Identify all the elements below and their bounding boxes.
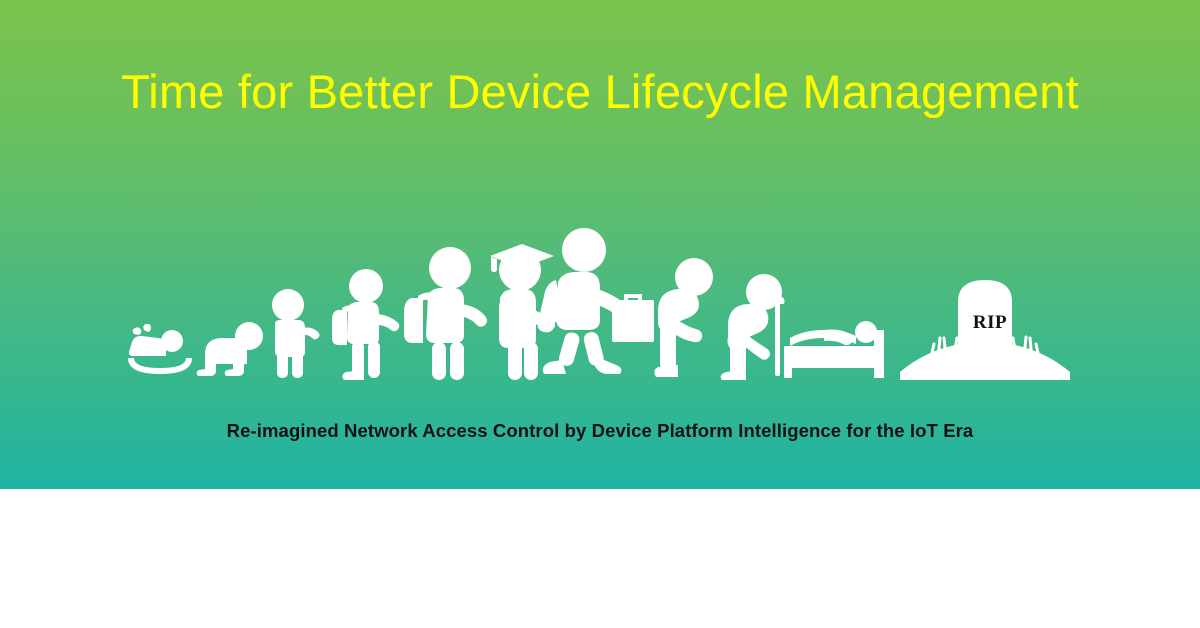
page-title: Time for Better Device Lifecycle Managem… xyxy=(0,62,1200,122)
student-backpack-icon xyxy=(398,246,490,380)
stooped-elder-icon xyxy=(638,255,720,380)
crawling-baby-icon xyxy=(195,318,267,380)
footer-section: Genians info security xyxy=(0,489,1200,628)
lifecycle-illustration xyxy=(110,225,1090,380)
baby-in-cradle-icon xyxy=(120,318,200,380)
tombstone-rip-label: RIP xyxy=(945,313,1035,332)
schoolchild-icon xyxy=(322,268,402,380)
toddler-icon xyxy=(265,288,327,380)
hero-section: Time for Better Device Lifecycle Managem… xyxy=(0,0,1200,489)
person-in-bed-icon xyxy=(782,312,890,380)
promo-banner: Time for Better Device Lifecycle Managem… xyxy=(0,0,1200,628)
page-subtitle: Re-imagined Network Access Control by De… xyxy=(0,418,1200,444)
